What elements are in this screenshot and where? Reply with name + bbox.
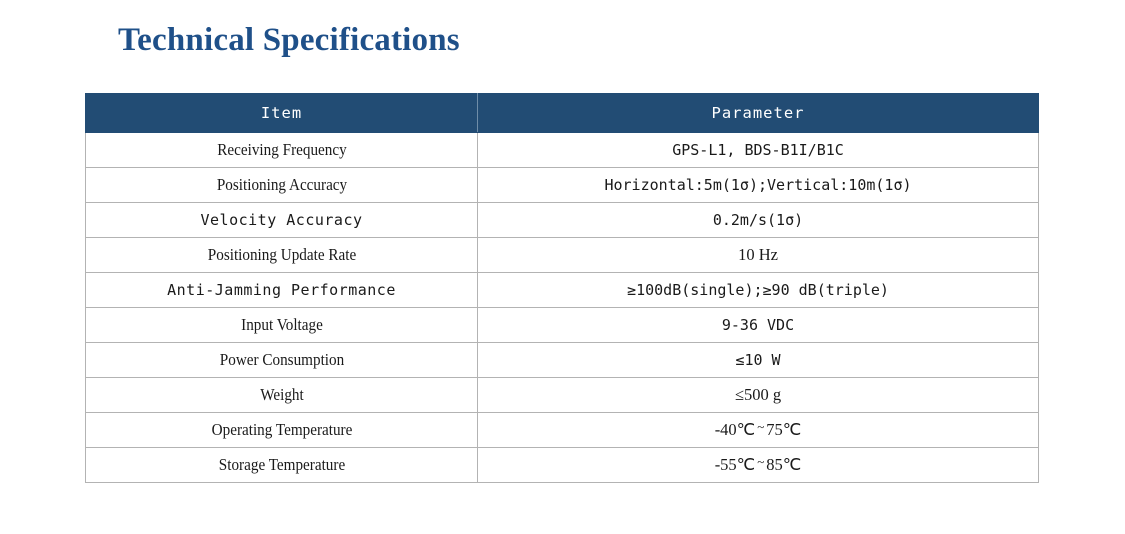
specifications-table-container: Item Parameter Receiving Frequency GPS-L… xyxy=(85,93,1038,483)
cell-parameter-velocity-accuracy: 0.2m/s(1σ) xyxy=(478,203,1039,238)
cell-item-receiving-frequency: Receiving Frequency xyxy=(101,133,462,168)
page-title: Technical Specifications xyxy=(118,22,460,59)
table-row: Positioning Update Rate 10 Hz xyxy=(86,238,1039,273)
cell-item-operating-temperature: Operating Temperature xyxy=(101,413,462,448)
table-row: Operating Temperature -40℃~75℃ xyxy=(86,413,1039,448)
table-row: Velocity Accuracy 0.2m/s(1σ) xyxy=(86,203,1039,238)
table-row: Positioning Accuracy Horizontal:5m(1σ);V… xyxy=(86,168,1039,203)
table-row: Weight ≤500 g xyxy=(86,378,1039,413)
table-header: Item Parameter xyxy=(86,94,1039,133)
operating-temp-range-tilde: ~ xyxy=(755,419,766,434)
cell-parameter-positioning-accuracy: Horizontal:5m(1σ);Vertical:10m(1σ) xyxy=(478,168,1039,203)
table-row: Anti-Jamming Performance ≥100dB(single);… xyxy=(86,273,1039,308)
cell-parameter-operating-temperature: -40℃~75℃ xyxy=(478,413,1039,448)
cell-parameter-input-voltage: 9-36 VDC xyxy=(478,308,1039,343)
cell-parameter-power-consumption: ≤10 W xyxy=(478,343,1039,378)
cell-item-storage-temperature: Storage Temperature xyxy=(101,448,462,483)
storage-temp-max: 85℃ xyxy=(766,455,801,474)
table-header-row: Item Parameter xyxy=(86,94,1039,133)
cell-item-input-voltage: Input Voltage xyxy=(101,308,462,343)
operating-temp-min: -40℃ xyxy=(715,420,756,439)
specifications-page: Technical Specifications Item Parameter … xyxy=(0,0,1125,534)
cell-parameter-positioning-update-rate: 10 Hz xyxy=(478,238,1039,273)
operating-temp-max: 75℃ xyxy=(766,420,801,439)
table-row: Input Voltage 9-36 VDC xyxy=(86,308,1039,343)
cell-parameter-weight: ≤500 g xyxy=(478,378,1039,413)
cell-item-positioning-accuracy: Positioning Accuracy xyxy=(101,168,462,203)
storage-temp-min: -55℃ xyxy=(715,455,756,474)
specifications-table: Item Parameter Receiving Frequency GPS-L… xyxy=(85,93,1039,483)
column-header-parameter: Parameter xyxy=(478,94,1039,133)
cell-parameter-storage-temperature: -55℃~85℃ xyxy=(478,448,1039,483)
cell-parameter-receiving-frequency: GPS-L1, BDS-B1I/B1C xyxy=(478,133,1039,168)
table-row: Receiving Frequency GPS-L1, BDS-B1I/B1C xyxy=(86,133,1039,168)
table-body: Receiving Frequency GPS-L1, BDS-B1I/B1C … xyxy=(86,133,1039,483)
cell-item-velocity-accuracy: Velocity Accuracy xyxy=(86,203,478,238)
cell-item-weight: Weight xyxy=(101,378,462,413)
table-row: Power Consumption ≤10 W xyxy=(86,343,1039,378)
table-row: Storage Temperature -55℃~85℃ xyxy=(86,448,1039,483)
cell-item-positioning-update-rate: Positioning Update Rate xyxy=(101,238,462,273)
column-header-item: Item xyxy=(86,94,478,133)
storage-temp-range-tilde: ~ xyxy=(755,454,766,469)
cell-item-anti-jamming-performance: Anti-Jamming Performance xyxy=(86,273,478,308)
cell-item-power-consumption: Power Consumption xyxy=(101,343,462,378)
cell-parameter-anti-jamming-performance: ≥100dB(single);≥90 dB(triple) xyxy=(478,273,1039,308)
